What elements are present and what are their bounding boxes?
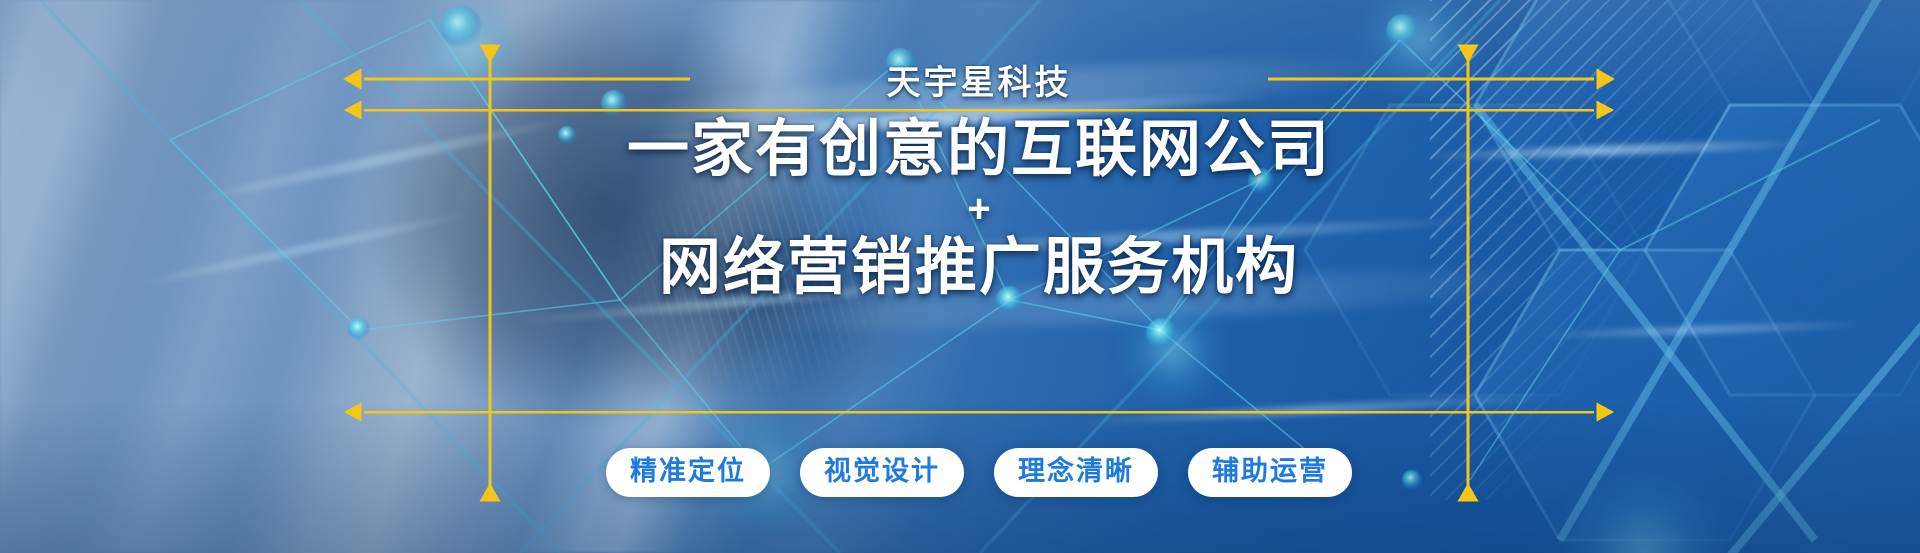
pill-accurate-positioning[interactable]: 精准定位 bbox=[606, 448, 770, 497]
headline-block: 一家有创意的互联网公司 + 网络营销推广服务机构 bbox=[490, 118, 1468, 300]
feature-pill-row: 精准定位 视觉设计 理念清晰 辅助运营 bbox=[490, 448, 1468, 497]
banner-content: 天宇星科技 一家有创意的互联网公司 + 网络营销推广服务机构 精准定位 视觉设计… bbox=[0, 0, 1920, 553]
plus-separator: + bbox=[490, 182, 1468, 236]
eyebrow-row: 天宇星科技 bbox=[490, 58, 1468, 100]
company-name: 天宇星科技 bbox=[869, 55, 1090, 104]
pill-visual-design[interactable]: 视觉设计 bbox=[800, 448, 964, 497]
headline-line-2: 网络营销推广服务机构 bbox=[490, 236, 1468, 300]
pill-clear-concept[interactable]: 理念清晰 bbox=[994, 448, 1158, 497]
pill-assisted-operations[interactable]: 辅助运营 bbox=[1188, 448, 1352, 497]
headline-line-1: 一家有创意的互联网公司 bbox=[490, 118, 1468, 182]
hero-banner: 天宇星科技 一家有创意的互联网公司 + 网络营销推广服务机构 精准定位 视觉设计… bbox=[0, 0, 1920, 553]
